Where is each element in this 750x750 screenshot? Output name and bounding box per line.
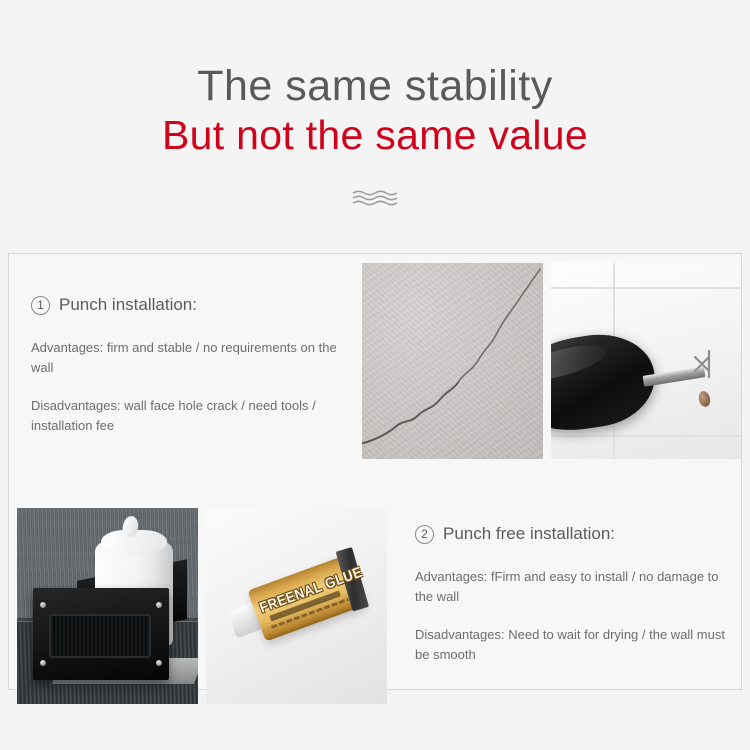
- cracked-wall-photo: [362, 263, 543, 459]
- black-bracket-holder-photo: [17, 508, 198, 704]
- bracket-screw: [156, 602, 162, 608]
- tile-grout-line: [551, 435, 741, 437]
- glue-tube-photo: FREENAL GLUE: [206, 508, 387, 704]
- bracket-screw: [156, 660, 162, 666]
- section-1-disadvantages: Disadvantages: wall face hole crack / ne…: [31, 396, 344, 435]
- step-number-badge: 2: [415, 525, 434, 544]
- black-metal-bracket: [33, 588, 169, 680]
- section-punch-free-installation: FREENAL GLUE 2 Punch free installation: …: [9, 508, 741, 704]
- headline-primary: The same stability: [0, 62, 750, 110]
- section-1-heading: 1 Punch installation:: [31, 295, 344, 315]
- wave-divider-icon: [352, 189, 398, 207]
- tile-grout-line: [551, 287, 741, 289]
- section-punch-installation: 1 Punch installation: Advantages: firm a…: [9, 263, 741, 459]
- bracket-slot: [49, 614, 151, 658]
- drill-highlight: [551, 338, 609, 388]
- section-2-title: Punch free installation:: [443, 524, 615, 544]
- punch-installation-text: 1 Punch installation: Advantages: firm a…: [9, 263, 362, 459]
- punch-installation-photos: [362, 263, 741, 459]
- page-header: The same stability But not the same valu…: [0, 0, 750, 159]
- section-2-disadvantages: Disadvantages: Need to wait for drying /…: [415, 625, 725, 664]
- wave-divider: [0, 189, 750, 207]
- punch-free-installation-text: 2 Punch free installation: Advantages: f…: [387, 508, 741, 704]
- comparison-card: 1 Punch installation: Advantages: firm a…: [8, 253, 742, 690]
- bracket-screw: [40, 602, 46, 608]
- section-2-advantages: Advantages: fFirm and easy to install / …: [415, 567, 725, 606]
- headline-secondary: But not the same value: [0, 112, 750, 159]
- step-number-badge: 1: [31, 296, 50, 315]
- wall-crack-line: [362, 263, 543, 459]
- drill-bit-tip: [693, 349, 723, 379]
- bracket-screw: [40, 660, 46, 666]
- punch-free-photos: FREENAL GLUE: [17, 508, 387, 704]
- section-1-title: Punch installation:: [59, 295, 197, 315]
- section-1-advantages: Advantages: firm and stable / no require…: [31, 338, 344, 377]
- section-2-heading: 2 Punch free installation:: [415, 524, 725, 544]
- electric-drill-photo: [551, 263, 741, 459]
